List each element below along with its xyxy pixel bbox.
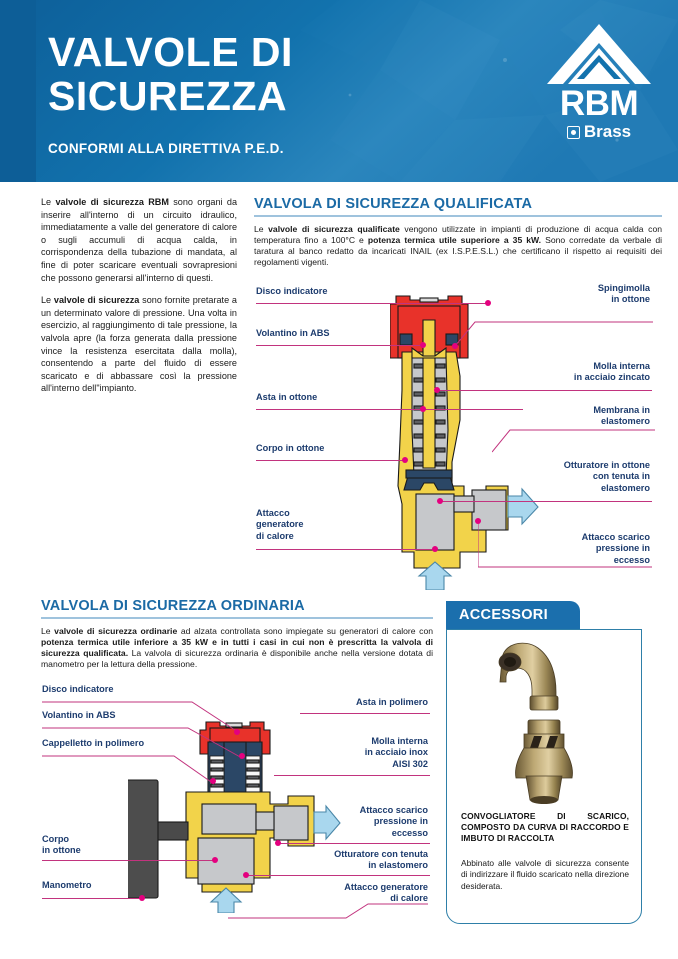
label-asta-ottone: Asta in ottone <box>256 392 317 403</box>
leader-molla-interna <box>437 390 652 391</box>
rbm-brass-lockup: Brass <box>538 122 660 142</box>
label-otturatore: Otturatore in ottone con tenuta in elast… <box>472 460 650 494</box>
label-attacco-generatore: Attacco generatore di calore <box>256 508 304 542</box>
leader-dot <box>139 895 145 901</box>
label-ord-corpo: Corpo in ottone <box>42 834 81 857</box>
leader-attacco-scarico <box>478 505 654 573</box>
rbm-logo: RBM Brass <box>538 22 660 144</box>
page-header: VALVOLE DI SICUREZZA CONFORMI ALLA DIRET… <box>0 0 678 182</box>
qualified-section-title: VALVOLA DI SICUREZZA QUALIFICATA <box>254 196 662 215</box>
ordinary-section: VALVOLA DI SICUREZZA ORDINARIA Le valvol… <box>41 598 433 671</box>
leader-dot <box>210 778 216 784</box>
label-ord-manometro: Manometro <box>42 880 92 891</box>
leader-ord-corpo <box>42 860 215 861</box>
leader-ord-attacco-generatore <box>228 890 430 922</box>
ordinary-section-title: VALVOLA DI SICUREZZA ORDINARIA <box>41 598 433 617</box>
header-left-strip <box>0 0 36 182</box>
leader-ord-asta <box>300 713 430 714</box>
leader-ord-cappelletto <box>42 748 217 788</box>
qualified-title-rule <box>254 215 662 217</box>
qualified-section: VALVOLA DI SICUREZZA QUALIFICATA Le valv… <box>254 196 662 269</box>
page-title: VALVOLE DI SICUREZZA <box>48 30 293 118</box>
leader-membrana <box>492 418 657 456</box>
label-ord-asta: Asta in polimero <box>300 697 428 708</box>
leader-dot <box>275 840 281 846</box>
leader-dot <box>420 406 426 412</box>
accessories-description: Abbinato alle valvole di sicurezza conse… <box>461 858 629 892</box>
label-spingimolla: Spingimolla in ottone <box>478 283 650 306</box>
leader-dot <box>239 753 245 759</box>
leader-dot <box>402 457 408 463</box>
label-disco-indicatore: Disco indicatore <box>256 286 327 297</box>
page-title-line1: VALVOLE DI <box>48 30 293 74</box>
label-molla-interna: Molla interna in acciaio zincato <box>478 361 650 384</box>
label-corpo-ottone: Corpo in ottone <box>256 443 324 454</box>
leader-ord-otturatore <box>246 875 430 876</box>
accessories-caption: CONVOGLIATORE DI SCARICO, COMPOSTO DA CU… <box>461 811 629 844</box>
leader-dot <box>212 857 218 863</box>
label-volantino-abs: Volantino in ABS <box>256 328 330 339</box>
label-ord-attacco-scarico: Attacco scarico pressione in eccesso <box>300 805 428 839</box>
intro-column: Le valvole di sicurezza RBM sono organi … <box>41 196 237 405</box>
label-ord-molla: Molla interna in acciaio inox AISI 302 <box>300 736 428 770</box>
brochure-page: VALVOLE DI SICUREZZA CONFORMI ALLA DIRET… <box>0 0 678 959</box>
rbm-triangle-icon <box>538 22 660 92</box>
qualified-body-text: Le valvole di sicurezza qualificate veng… <box>254 224 662 269</box>
ordinary-body-text: Le valvole di sicurezza ordinarie ad alz… <box>41 626 433 671</box>
intro-paragraph-2: Le valvole di sicurezza sono fornite pre… <box>41 294 237 395</box>
leader-corpo-ottone <box>256 460 405 461</box>
leader-dot <box>437 498 443 504</box>
leader-ord-manometro <box>42 898 142 899</box>
leader-ord-attacco-scarico <box>278 843 430 844</box>
leader-ord-molla <box>274 775 430 776</box>
leader-spingimolla <box>455 310 655 350</box>
leader-volantino-abs <box>256 345 423 346</box>
leader-dot <box>434 387 440 393</box>
leader-dot <box>475 518 481 524</box>
accessories-tab[interactable]: ACCESSORI <box>446 601 580 629</box>
leader-disco-indicatore <box>256 303 488 304</box>
intro-paragraph-1: Le valvole di sicurezza RBM sono organi … <box>41 196 237 284</box>
leader-dot <box>452 343 458 349</box>
leader-dot <box>432 546 438 552</box>
registered-icon <box>567 126 580 139</box>
discharge-conveyor-photo <box>490 638 600 808</box>
rbm-logo-text: RBM <box>538 84 660 124</box>
page-subtitle: CONFORMI ALLA DIRETTIVA P.E.D. <box>48 141 284 156</box>
leader-attacco-generatore <box>256 549 435 550</box>
rbm-brass-text: Brass <box>584 122 631 142</box>
leader-dot <box>420 342 426 348</box>
ordinary-title-rule <box>41 617 433 619</box>
page-title-line2: SICUREZZA <box>48 74 293 118</box>
leader-otturatore <box>440 501 652 502</box>
leader-dot <box>243 872 249 878</box>
label-ord-otturatore: Otturatore con tenuta in elastomero <box>290 849 428 872</box>
